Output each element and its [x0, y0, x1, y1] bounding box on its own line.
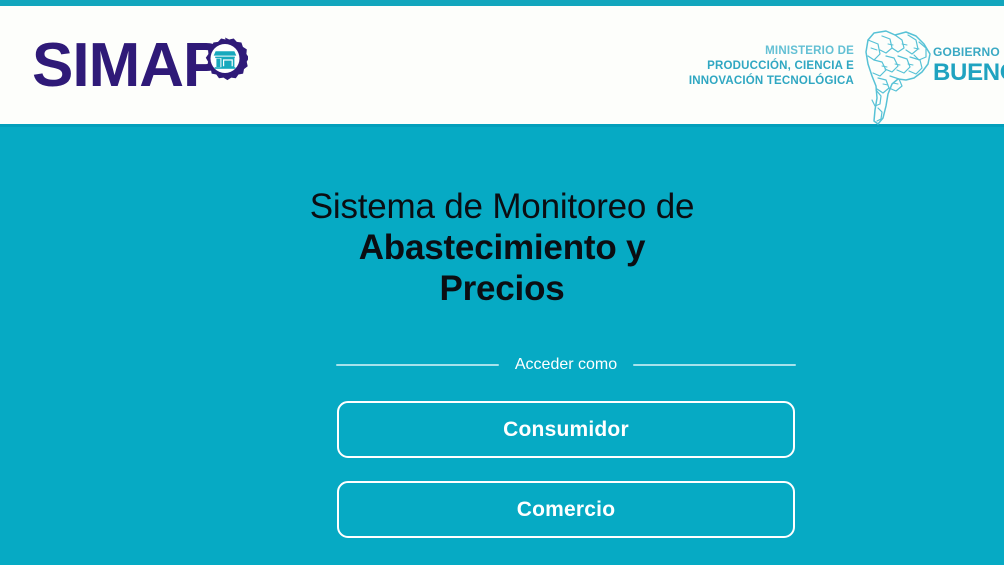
ministry-line-2: PRODUCCIÓN, CIENCIA E — [689, 59, 854, 74]
comercio-button[interactable]: Comercio — [337, 481, 795, 538]
page-title-line-1: Sistema de Monitoreo de — [0, 187, 1004, 228]
simap-landing-page: SIMAP MINISTERIO DE PRO — [0, 0, 1004, 565]
government-line-2: BUENOS — [933, 60, 1004, 85]
simap-logo-wordmark: SIMAP — [32, 35, 223, 97]
ministry-text-block: MINISTERIO DE PRODUCCIÓN, CIENCIA E INNO… — [689, 44, 854, 90]
government-text-block: GOBIERNO DE BUENOS — [933, 46, 1004, 85]
page-title-line-3: Precios — [0, 269, 1004, 310]
divider-rule-right — [633, 364, 796, 366]
access-divider: Acceder como — [336, 355, 796, 375]
government-line-1: GOBIERNO DE — [933, 46, 1004, 59]
ministry-line-1: MINISTERIO DE — [689, 44, 854, 59]
divider-rule-left — [336, 364, 499, 366]
page-title: Sistema de Monitoreo de Abastecimiento y… — [0, 187, 1004, 310]
simap-logo[interactable]: SIMAP — [32, 28, 223, 104]
main-content: Sistema de Monitoreo de Abastecimiento y… — [0, 130, 1004, 565]
consumidor-button[interactable]: Consumidor — [337, 401, 795, 458]
page-title-line-2: Abastecimiento y — [0, 228, 1004, 269]
ministry-line-3: INNOVACIÓN TECNOLÓGICA — [689, 74, 854, 89]
storefront-icon — [202, 36, 248, 82]
page-header: SIMAP MINISTERIO DE PRO — [0, 6, 1004, 127]
access-divider-label: Acceder como — [515, 356, 617, 374]
